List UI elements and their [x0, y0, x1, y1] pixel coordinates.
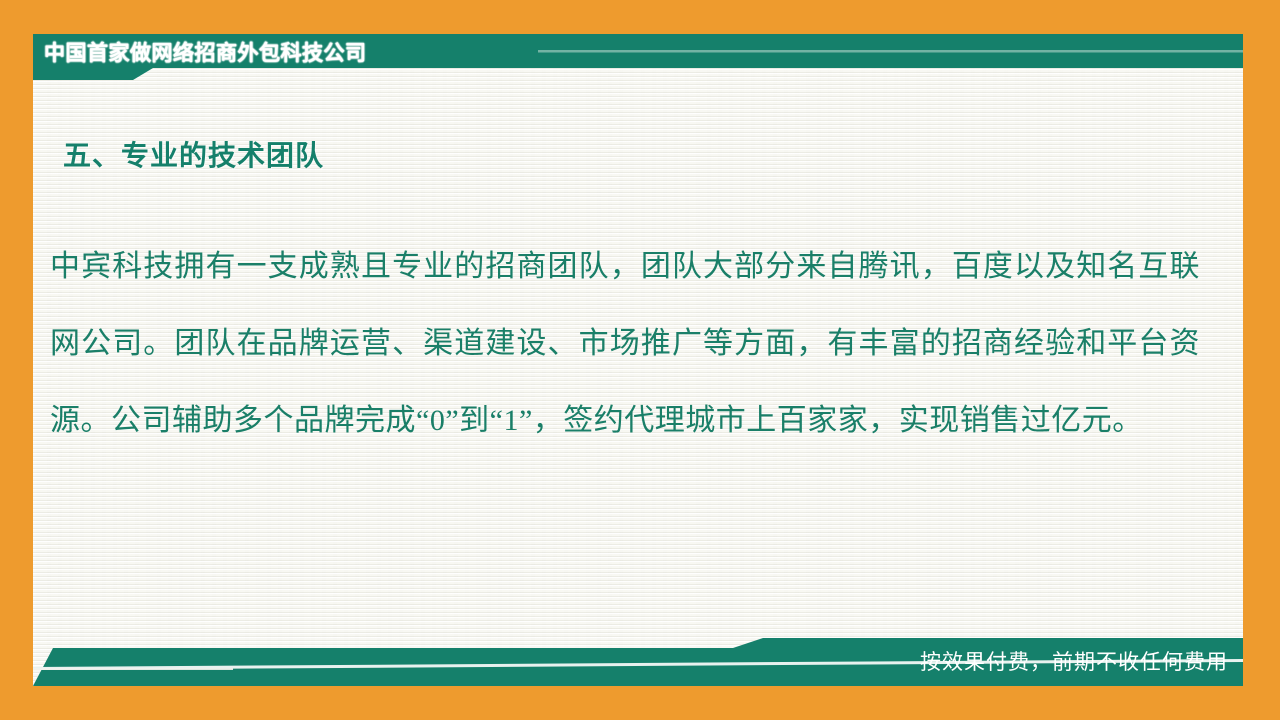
- slide-content: 五、专业的技术团队 中宾科技拥有一支成熟且专业的招商团队，团队大部分来自腾讯，百…: [33, 86, 1243, 634]
- orange-border-left: [0, 0, 33, 720]
- slide: 中国首家做网络招商外包科技公司 五、专业的技术团队 中宾科技拥有一支成熟且专业的…: [0, 0, 1280, 720]
- orange-border-right: [1243, 0, 1280, 720]
- orange-border-bottom: [0, 686, 1280, 720]
- section-body-text: 中宾科技拥有一支成熟且专业的招商团队，团队大部分来自腾讯，百度以及知名互联网公司…: [50, 228, 1200, 459]
- header-banner-text: 中国首家做网络招商外包科技公司: [44, 34, 367, 74]
- section-heading: 五、专业的技术团队: [63, 134, 324, 174]
- footer-tagline: 按效果付费，前期不收任何费用: [920, 646, 1228, 680]
- orange-border-top: [0, 0, 1280, 34]
